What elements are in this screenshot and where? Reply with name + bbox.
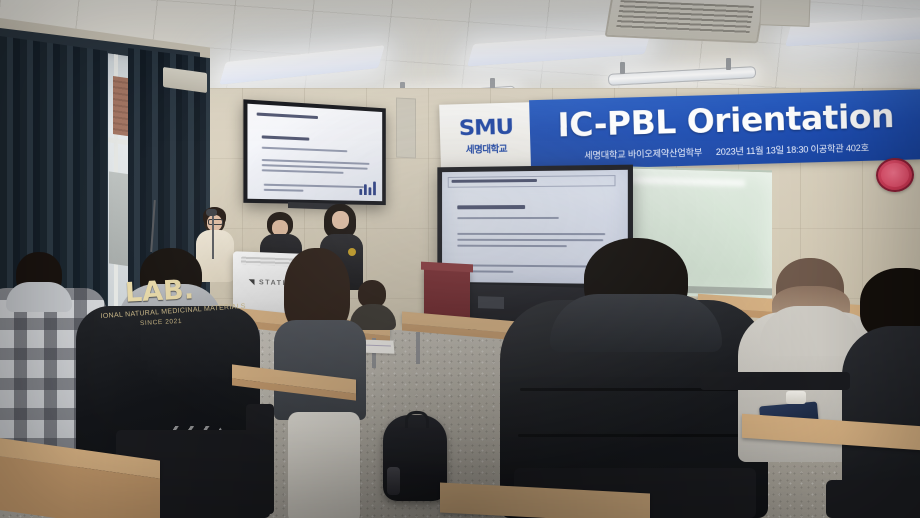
audience-legs bbox=[288, 412, 360, 518]
lectern-top bbox=[421, 262, 473, 273]
water-bottle bbox=[387, 467, 400, 495]
tv-slide-line bbox=[264, 189, 304, 192]
slide-bullet-title bbox=[457, 205, 525, 209]
tv-bar bbox=[373, 182, 376, 196]
ceiling-vent-small bbox=[760, 0, 811, 27]
chair-back[interactable] bbox=[246, 404, 274, 514]
banner-subtitle: 세명대학교 바이오제약산업학부 2023년 11월 13일 18:30 이공학관… bbox=[584, 140, 869, 162]
tube-bracket-2b bbox=[726, 58, 731, 70]
tube-bracket-2a bbox=[620, 62, 625, 74]
ceiling-air-vent bbox=[605, 0, 766, 43]
desk-front-panel bbox=[0, 453, 160, 518]
slide-subline bbox=[457, 217, 559, 220]
banner-title: IC-PBL Orientation bbox=[557, 99, 894, 141]
classroom-photo: SMU 세명대학교 IC-PBL Orientation 세명대학교 바이오제약… bbox=[0, 0, 920, 518]
tv-slide-line bbox=[262, 169, 344, 174]
glasses-icon bbox=[208, 219, 223, 225]
tv-slide-line bbox=[262, 147, 348, 153]
tv-slide-bar-chart bbox=[359, 181, 375, 195]
logo-korean-name: 세명대학교 bbox=[466, 141, 508, 156]
microphone-icon bbox=[206, 209, 217, 216]
hoodie-hood bbox=[6, 282, 72, 312]
audience-member-longhair bbox=[262, 248, 372, 478]
vent-grille bbox=[616, 0, 754, 34]
university-logo: SMU 세명대학교 bbox=[439, 102, 533, 171]
tv-bar bbox=[359, 189, 362, 195]
paper-cup[interactable] bbox=[786, 391, 806, 404]
logo-smu-mark: SMU bbox=[459, 117, 514, 140]
wall-mounted-display bbox=[247, 104, 382, 201]
banner-subtitle-datetime: 2023년 11월 13일 18:30 이공학관 402호 bbox=[716, 143, 869, 157]
banner-subtitle-department: 세명대학교 바이오제약산업학부 bbox=[584, 147, 702, 160]
puffer-quilt-seam bbox=[518, 434, 754, 437]
chair[interactable] bbox=[826, 480, 920, 518]
desk-leg bbox=[416, 332, 420, 364]
wall-mounted-display-frame bbox=[243, 99, 385, 205]
audience-body bbox=[274, 320, 366, 420]
tv-bar bbox=[364, 184, 367, 195]
backpack[interactable] bbox=[383, 415, 447, 501]
presenter-face bbox=[332, 211, 349, 229]
clock-face bbox=[881, 163, 910, 188]
tv-bar bbox=[369, 187, 372, 195]
backpack-strap bbox=[405, 411, 429, 428]
event-banner: SMU 세명대학교 IC-PBL Orientation 세명대학교 바이오제약… bbox=[439, 89, 920, 172]
tv-slide-header bbox=[257, 112, 318, 118]
tv-slide-line bbox=[264, 184, 364, 188]
whiteboard-glare bbox=[626, 176, 745, 186]
wall-speaker bbox=[396, 97, 416, 158]
hoodie-hood bbox=[760, 306, 860, 356]
puffer-hood bbox=[550, 294, 722, 352]
banner-blue-field: IC-PBL Orientation 세명대학교 바이오제약산업학부 2023년… bbox=[529, 89, 920, 170]
slide-body-line bbox=[457, 233, 605, 235]
chair[interactable] bbox=[700, 372, 850, 390]
tv-slide-title bbox=[262, 135, 310, 140]
